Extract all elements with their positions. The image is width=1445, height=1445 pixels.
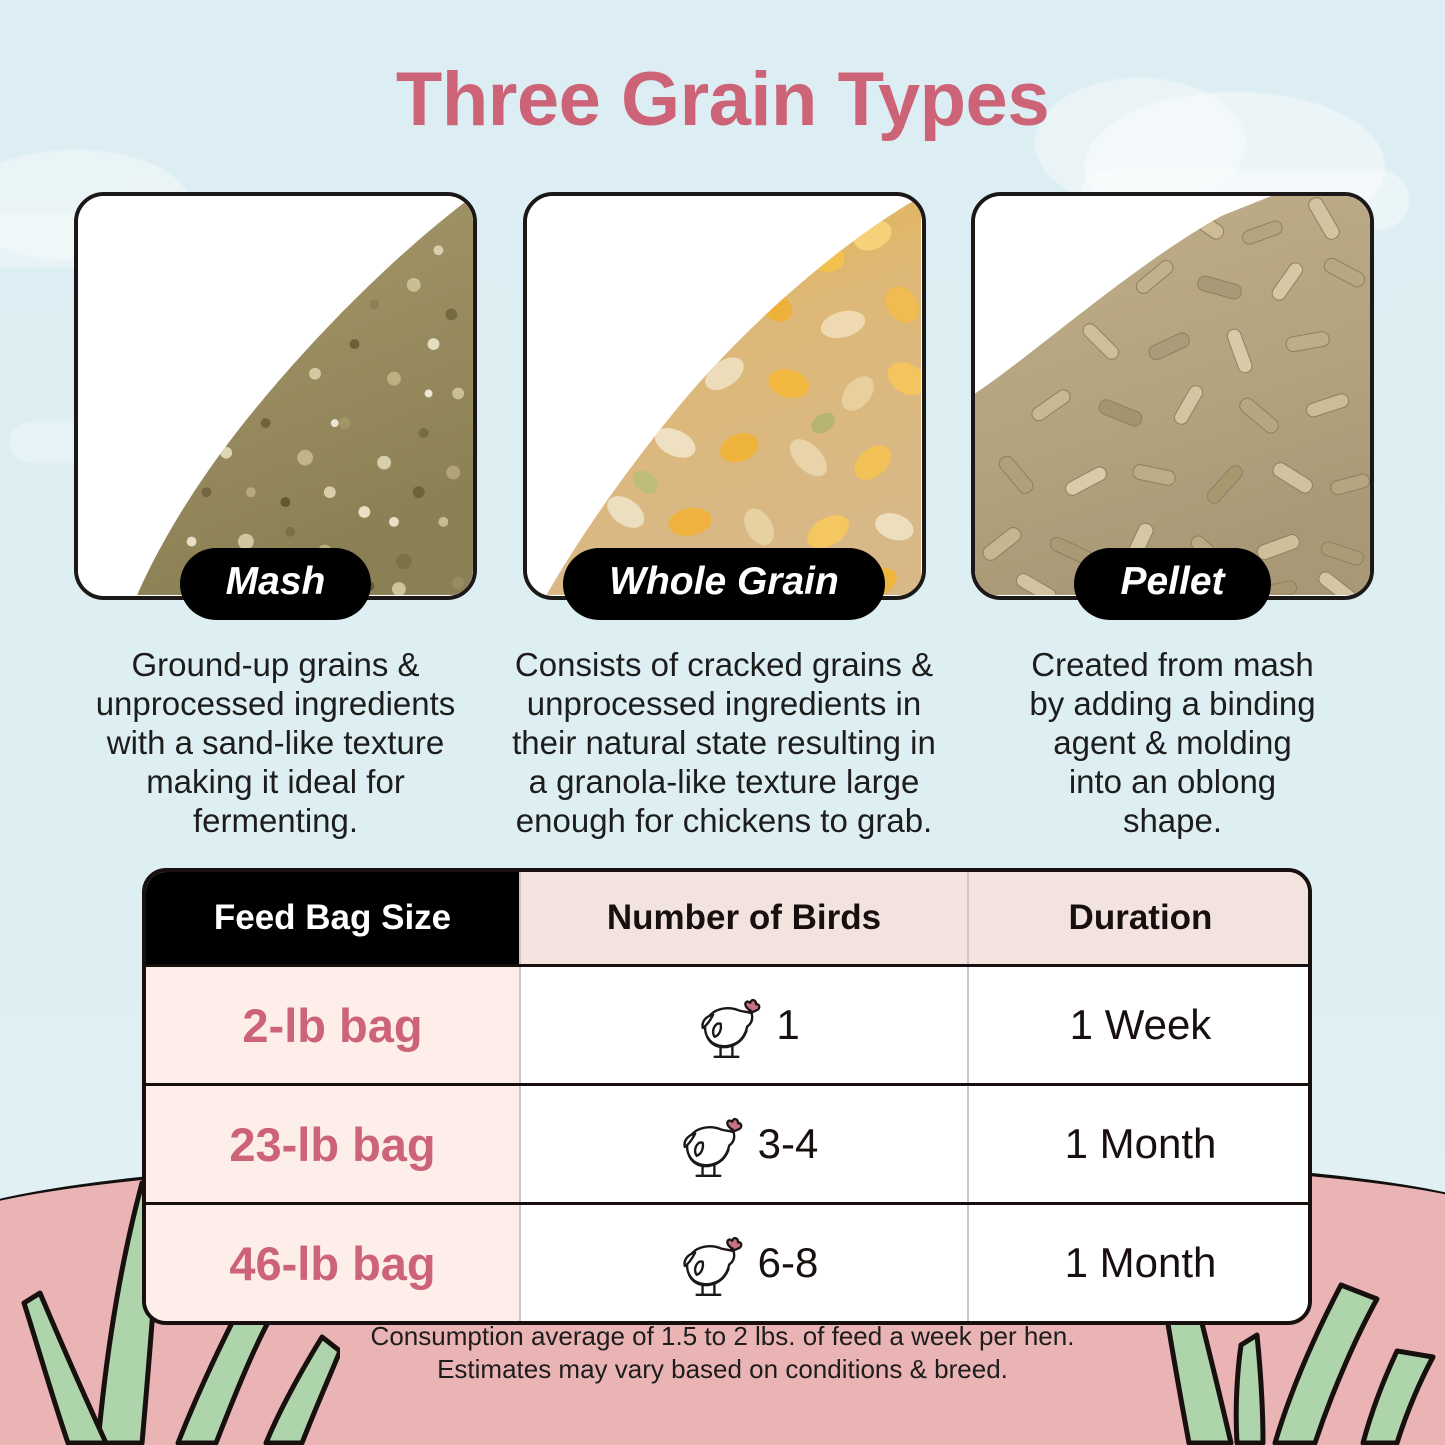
grain-card-whole-grain: Whole Grain Consists of cracked grains &…	[523, 192, 926, 841]
table-row: 2-lb bag	[146, 966, 1312, 1085]
pellet-photo	[971, 192, 1374, 600]
grain-label-pellet: Pellet	[1074, 548, 1270, 620]
table-header-row: Feed Bag Size Number of Birds Duration	[146, 872, 1312, 966]
grain-label-mash: Mash	[180, 548, 372, 620]
header-number-of-birds: Number of Birds	[520, 872, 968, 966]
page-title: Three Grain Types	[0, 62, 1445, 138]
hen-icon	[670, 1107, 744, 1181]
grain-card-pellet: Pellet Created from mash by adding a bin…	[971, 192, 1374, 841]
cell-number-of-birds: 6-8	[520, 1204, 968, 1322]
birds-count: 3-4	[758, 1120, 819, 1168]
table-row: 46-lb bag	[146, 1204, 1312, 1322]
infographic-root: Three Grain Types	[0, 0, 1445, 1445]
cell-bag-size: 46-lb bag	[146, 1204, 520, 1322]
cell-duration: 1 Week	[968, 966, 1312, 1085]
birds-count: 6-8	[758, 1239, 819, 1287]
grain-label-whole-grain: Whole Grain	[563, 548, 885, 620]
grain-cards: Mash Ground-up grains & unprocessed ingr…	[74, 192, 1374, 841]
grain-card-mash: Mash Ground-up grains & unprocessed ingr…	[74, 192, 477, 841]
birds-count: 1	[776, 1001, 799, 1049]
hen-icon	[670, 1226, 744, 1300]
whole-grain-pile-image	[527, 196, 922, 595]
feed-bag-table: Feed Bag Size Number of Birds Duration 2…	[142, 868, 1312, 1325]
hen-icon	[688, 988, 762, 1062]
mash-pile-image	[78, 196, 473, 595]
footnote-text: Consumption average of 1.5 to 2 lbs. of …	[0, 1320, 1445, 1387]
cell-duration: 1 Month	[968, 1085, 1312, 1204]
mash-photo	[74, 192, 477, 600]
table-row: 23-lb bag	[146, 1085, 1312, 1204]
pellet-pile-image	[975, 196, 1370, 595]
grain-description-mash: Ground-up grains & unprocessed ingredien…	[78, 646, 473, 841]
grain-description-pellet: Created from mash by adding a binding ag…	[1003, 646, 1343, 841]
cell-bag-size: 23-lb bag	[146, 1085, 520, 1204]
cell-number-of-birds: 1	[520, 966, 968, 1085]
header-duration: Duration	[968, 872, 1312, 966]
cell-bag-size: 2-lb bag	[146, 966, 520, 1085]
cell-number-of-birds: 3-4	[520, 1085, 968, 1204]
whole-grain-photo	[523, 192, 926, 600]
header-feed-bag-size: Feed Bag Size	[146, 872, 520, 966]
grain-description-whole-grain: Consists of cracked grains & unprocessed…	[489, 646, 959, 841]
cell-duration: 1 Month	[968, 1204, 1312, 1322]
